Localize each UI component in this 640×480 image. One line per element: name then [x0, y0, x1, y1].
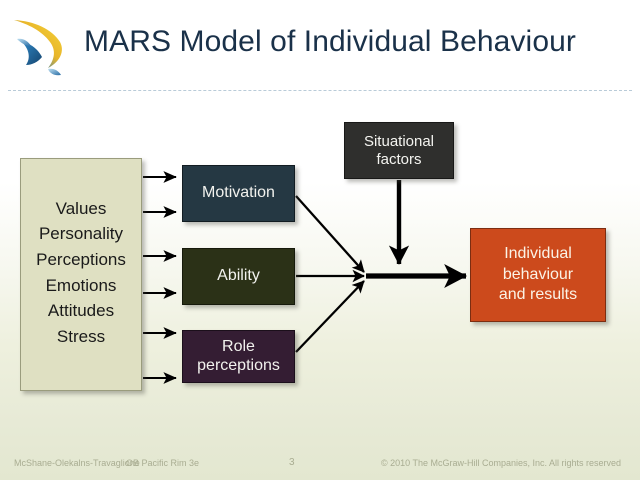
swoosh-logo-icon	[8, 12, 76, 80]
input-item-personality: Personality	[39, 224, 123, 244]
input-item-emotions: Emotions	[46, 276, 117, 296]
outcome-label-line3: and results	[499, 286, 577, 304]
input-item-attitudes: Attitudes	[48, 301, 114, 321]
situational-label-line1: Situational	[364, 133, 434, 150]
input-item-values: Values	[56, 199, 107, 219]
outcome-label-line2: behaviour	[503, 266, 573, 284]
ability-box[interactable]: Ability	[182, 248, 295, 305]
situational-label-line2: factors	[376, 151, 421, 168]
footer-course: OB Pacific Rim 3e	[126, 458, 199, 468]
outcome-box[interactable]: Individual behaviour and results	[470, 228, 606, 322]
role-label-line1: Role	[222, 338, 255, 356]
outcome-label-line1: Individual	[504, 245, 572, 263]
footer-copyright: © 2010 The McGraw-Hill Companies, Inc. A…	[381, 458, 621, 468]
slide-number: 3	[289, 457, 295, 468]
role-label-line2: perceptions	[197, 357, 280, 375]
role-perceptions-box[interactable]: Role perceptions	[182, 330, 295, 383]
page-title: MARS Model of Individual Behaviour	[84, 25, 576, 59]
title-divider	[8, 90, 632, 91]
motivation-box[interactable]: Motivation	[182, 165, 295, 222]
input-item-stress: Stress	[57, 327, 105, 347]
slide-canvas: MARS Model of Individual Behaviour	[0, 0, 640, 480]
inputs-box[interactable]: Values Personality Perceptions Emotions …	[20, 158, 142, 391]
footer-authors: McShane-Olekalns-Travaglione	[14, 458, 140, 468]
motivation-label: Motivation	[202, 184, 275, 202]
ability-label: Ability	[217, 267, 260, 285]
input-item-perceptions: Perceptions	[36, 250, 126, 270]
situational-factors-box[interactable]: Situational factors	[344, 122, 454, 179]
